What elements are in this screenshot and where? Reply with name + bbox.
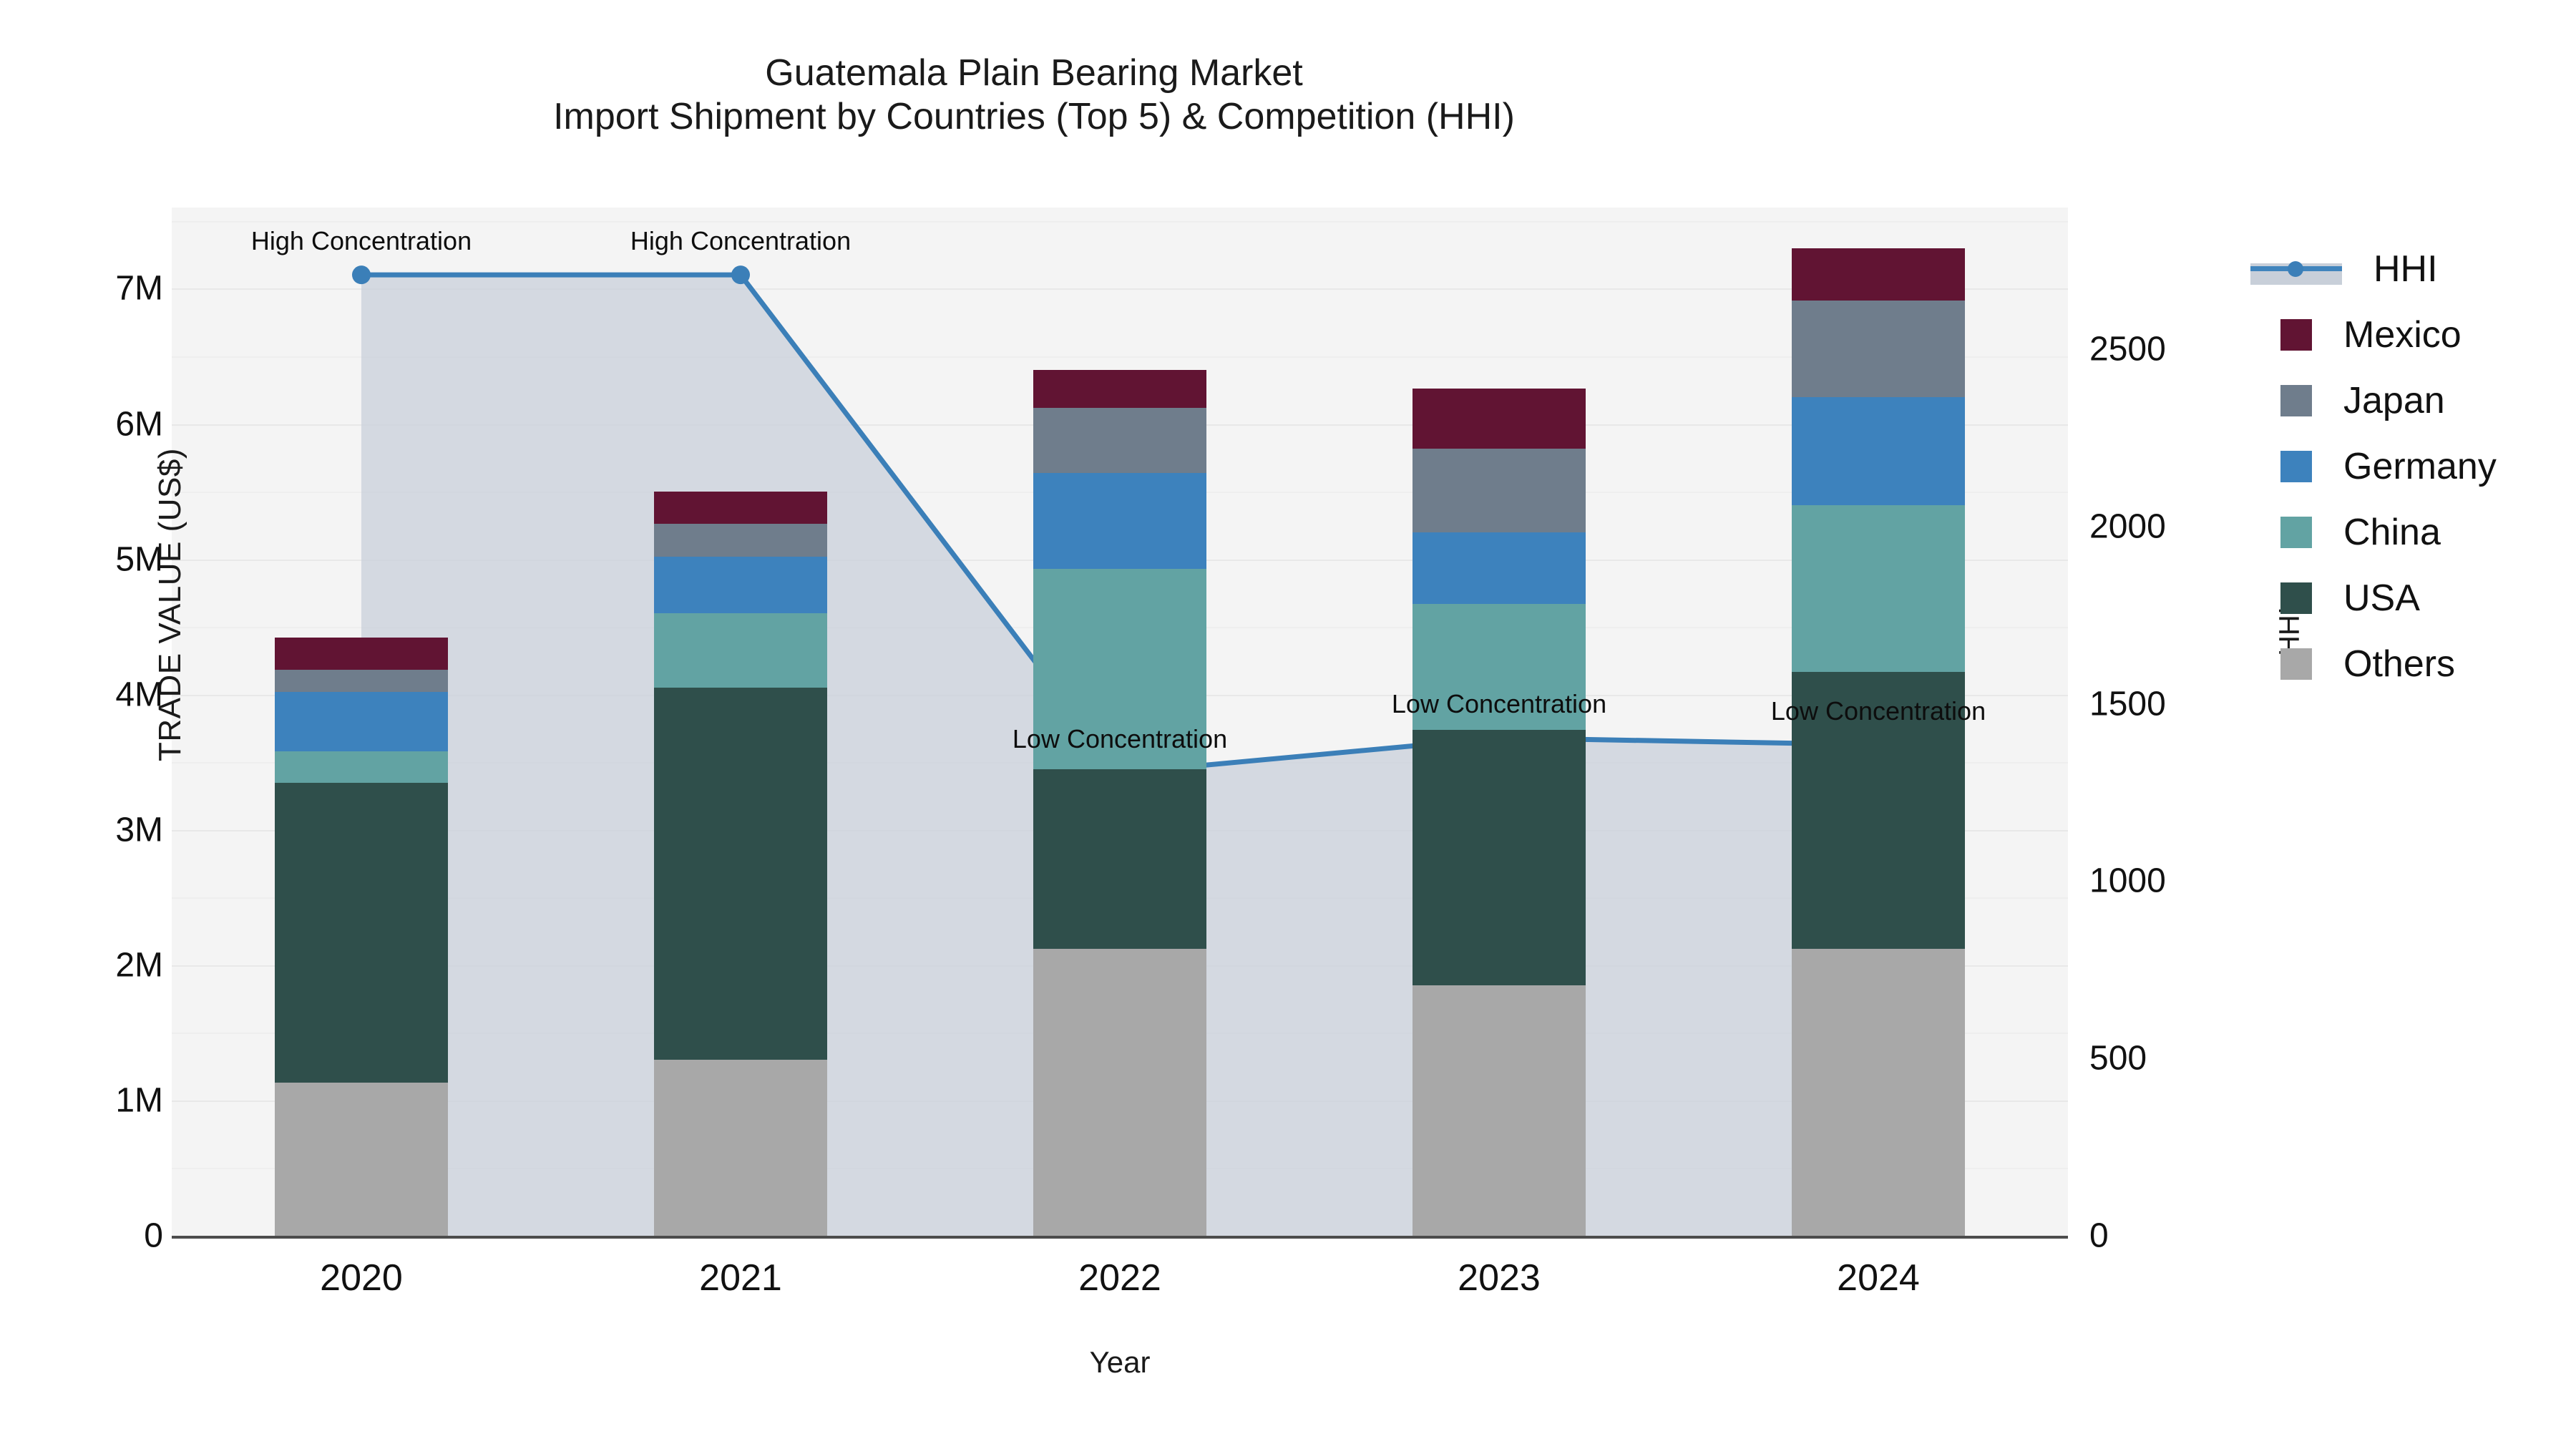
chart-title: Guatemala Plain Bearing Market Import Sh…	[0, 52, 2068, 140]
x-tick-label: 2021	[597, 1257, 884, 1299]
bar-segment-mexico[interactable]	[1792, 248, 1965, 301]
legend-item-china[interactable]: China	[2250, 499, 2565, 565]
bar-segment-germany[interactable]	[1413, 532, 1586, 604]
legend-swatch-icon	[2280, 385, 2312, 416]
x-tick-label: 2020	[218, 1257, 504, 1299]
y-tick-label-left: 4M	[0, 675, 163, 714]
chart-root: Guatemala Plain Bearing Market Import Sh…	[0, 0, 2576, 1449]
legend-swatch-icon	[2280, 648, 2312, 680]
legend-label: Others	[2343, 645, 2455, 683]
bar-segment-germany[interactable]	[654, 557, 827, 613]
y-tick-label-left: 3M	[0, 810, 163, 849]
y-tick-label-right: 0	[2089, 1216, 2304, 1256]
bar-segment-usa[interactable]	[1033, 769, 1206, 949]
bar-stack[interactable]	[275, 208, 448, 1236]
y-tick-label-left: 7M	[0, 269, 163, 308]
x-tick-label: 2022	[977, 1257, 1263, 1299]
concentration-annotation: High Concentration	[630, 226, 851, 256]
chart-title-line1: Guatemala Plain Bearing Market	[765, 52, 1303, 94]
legend: HHIMexicoJapanGermanyChinaUSAOthers	[2250, 236, 2565, 697]
legend-label: HHI	[2373, 250, 2438, 288]
legend-label: Germany	[2343, 448, 2497, 485]
legend-line-marker-icon	[2250, 253, 2342, 285]
x-tick-label: 2023	[1356, 1257, 1642, 1299]
bar-segment-japan[interactable]	[1033, 408, 1206, 473]
bar-segment-usa[interactable]	[1413, 730, 1586, 985]
legend-label: China	[2343, 514, 2441, 551]
legend-label: Mexico	[2343, 316, 2462, 353]
y-tick-label-right: 500	[2089, 1039, 2304, 1078]
legend-item-japan[interactable]: Japan	[2250, 368, 2565, 434]
bar-segment-usa[interactable]	[275, 783, 448, 1083]
concentration-annotation: Low Concentration	[1392, 689, 1606, 719]
y-tick-label-left: 5M	[0, 540, 163, 579]
bar-segment-germany[interactable]	[275, 692, 448, 751]
bar-segment-others[interactable]	[1413, 985, 1586, 1236]
concentration-annotation: Low Concentration	[1771, 696, 1986, 726]
concentration-annotation: Low Concentration	[1013, 724, 1227, 754]
y-tick-label-left: 6M	[0, 404, 163, 444]
bar-segment-others[interactable]	[1792, 949, 1965, 1236]
legend-swatch-icon	[2280, 582, 2312, 614]
y-axis-label-left: TRADE VALUE (US$)	[152, 390, 188, 819]
legend-swatch-icon	[2280, 319, 2312, 351]
legend-swatch-icon	[2280, 451, 2312, 482]
legend-item-mexico[interactable]: Mexico	[2250, 302, 2565, 368]
bar-segment-china[interactable]	[275, 751, 448, 782]
y-tick-label-left: 2M	[0, 945, 163, 985]
bar-stack[interactable]	[1413, 208, 1586, 1236]
x-axis-label: Year	[172, 1345, 2068, 1380]
bar-segment-mexico[interactable]	[1033, 370, 1206, 408]
legend-item-germany[interactable]: Germany	[2250, 434, 2565, 499]
bar-segment-china[interactable]	[654, 613, 827, 688]
bar-segment-japan[interactable]	[654, 524, 827, 556]
bar-segment-others[interactable]	[654, 1060, 827, 1236]
bar-segment-others[interactable]	[275, 1083, 448, 1236]
bar-segment-usa[interactable]	[654, 688, 827, 1060]
chart-title-line2: Import Shipment by Countries (Top 5) & C…	[553, 96, 1515, 137]
y-tick-label-left: 0	[0, 1216, 163, 1256]
legend-label: Japan	[2343, 382, 2445, 419]
legend-swatch-icon	[2280, 517, 2312, 548]
bar-stack[interactable]	[1033, 208, 1206, 1236]
legend-item-hhi[interactable]: HHI	[2250, 236, 2565, 302]
legend-label: USA	[2343, 580, 2420, 617]
x-axis-line	[172, 1236, 2068, 1239]
bar-segment-japan[interactable]	[275, 670, 448, 692]
bar-segment-mexico[interactable]	[1413, 389, 1586, 448]
y-tick-label-left: 1M	[0, 1080, 163, 1120]
x-tick-label: 2024	[1735, 1257, 2021, 1299]
bar-segment-others[interactable]	[1033, 949, 1206, 1236]
bar-segment-germany[interactable]	[1792, 397, 1965, 505]
bar-segment-china[interactable]	[1792, 505, 1965, 672]
bar-segment-japan[interactable]	[1792, 301, 1965, 396]
legend-item-usa[interactable]: USA	[2250, 565, 2565, 631]
y-tick-label-right: 1000	[2089, 862, 2304, 901]
bar-segment-japan[interactable]	[1413, 449, 1586, 532]
bar-stack[interactable]	[654, 208, 827, 1236]
bar-segment-mexico[interactable]	[654, 492, 827, 524]
legend-item-others[interactable]: Others	[2250, 631, 2565, 697]
bar-segment-germany[interactable]	[1033, 473, 1206, 569]
concentration-annotation: High Concentration	[251, 226, 472, 256]
bar-segment-mexico[interactable]	[275, 638, 448, 669]
